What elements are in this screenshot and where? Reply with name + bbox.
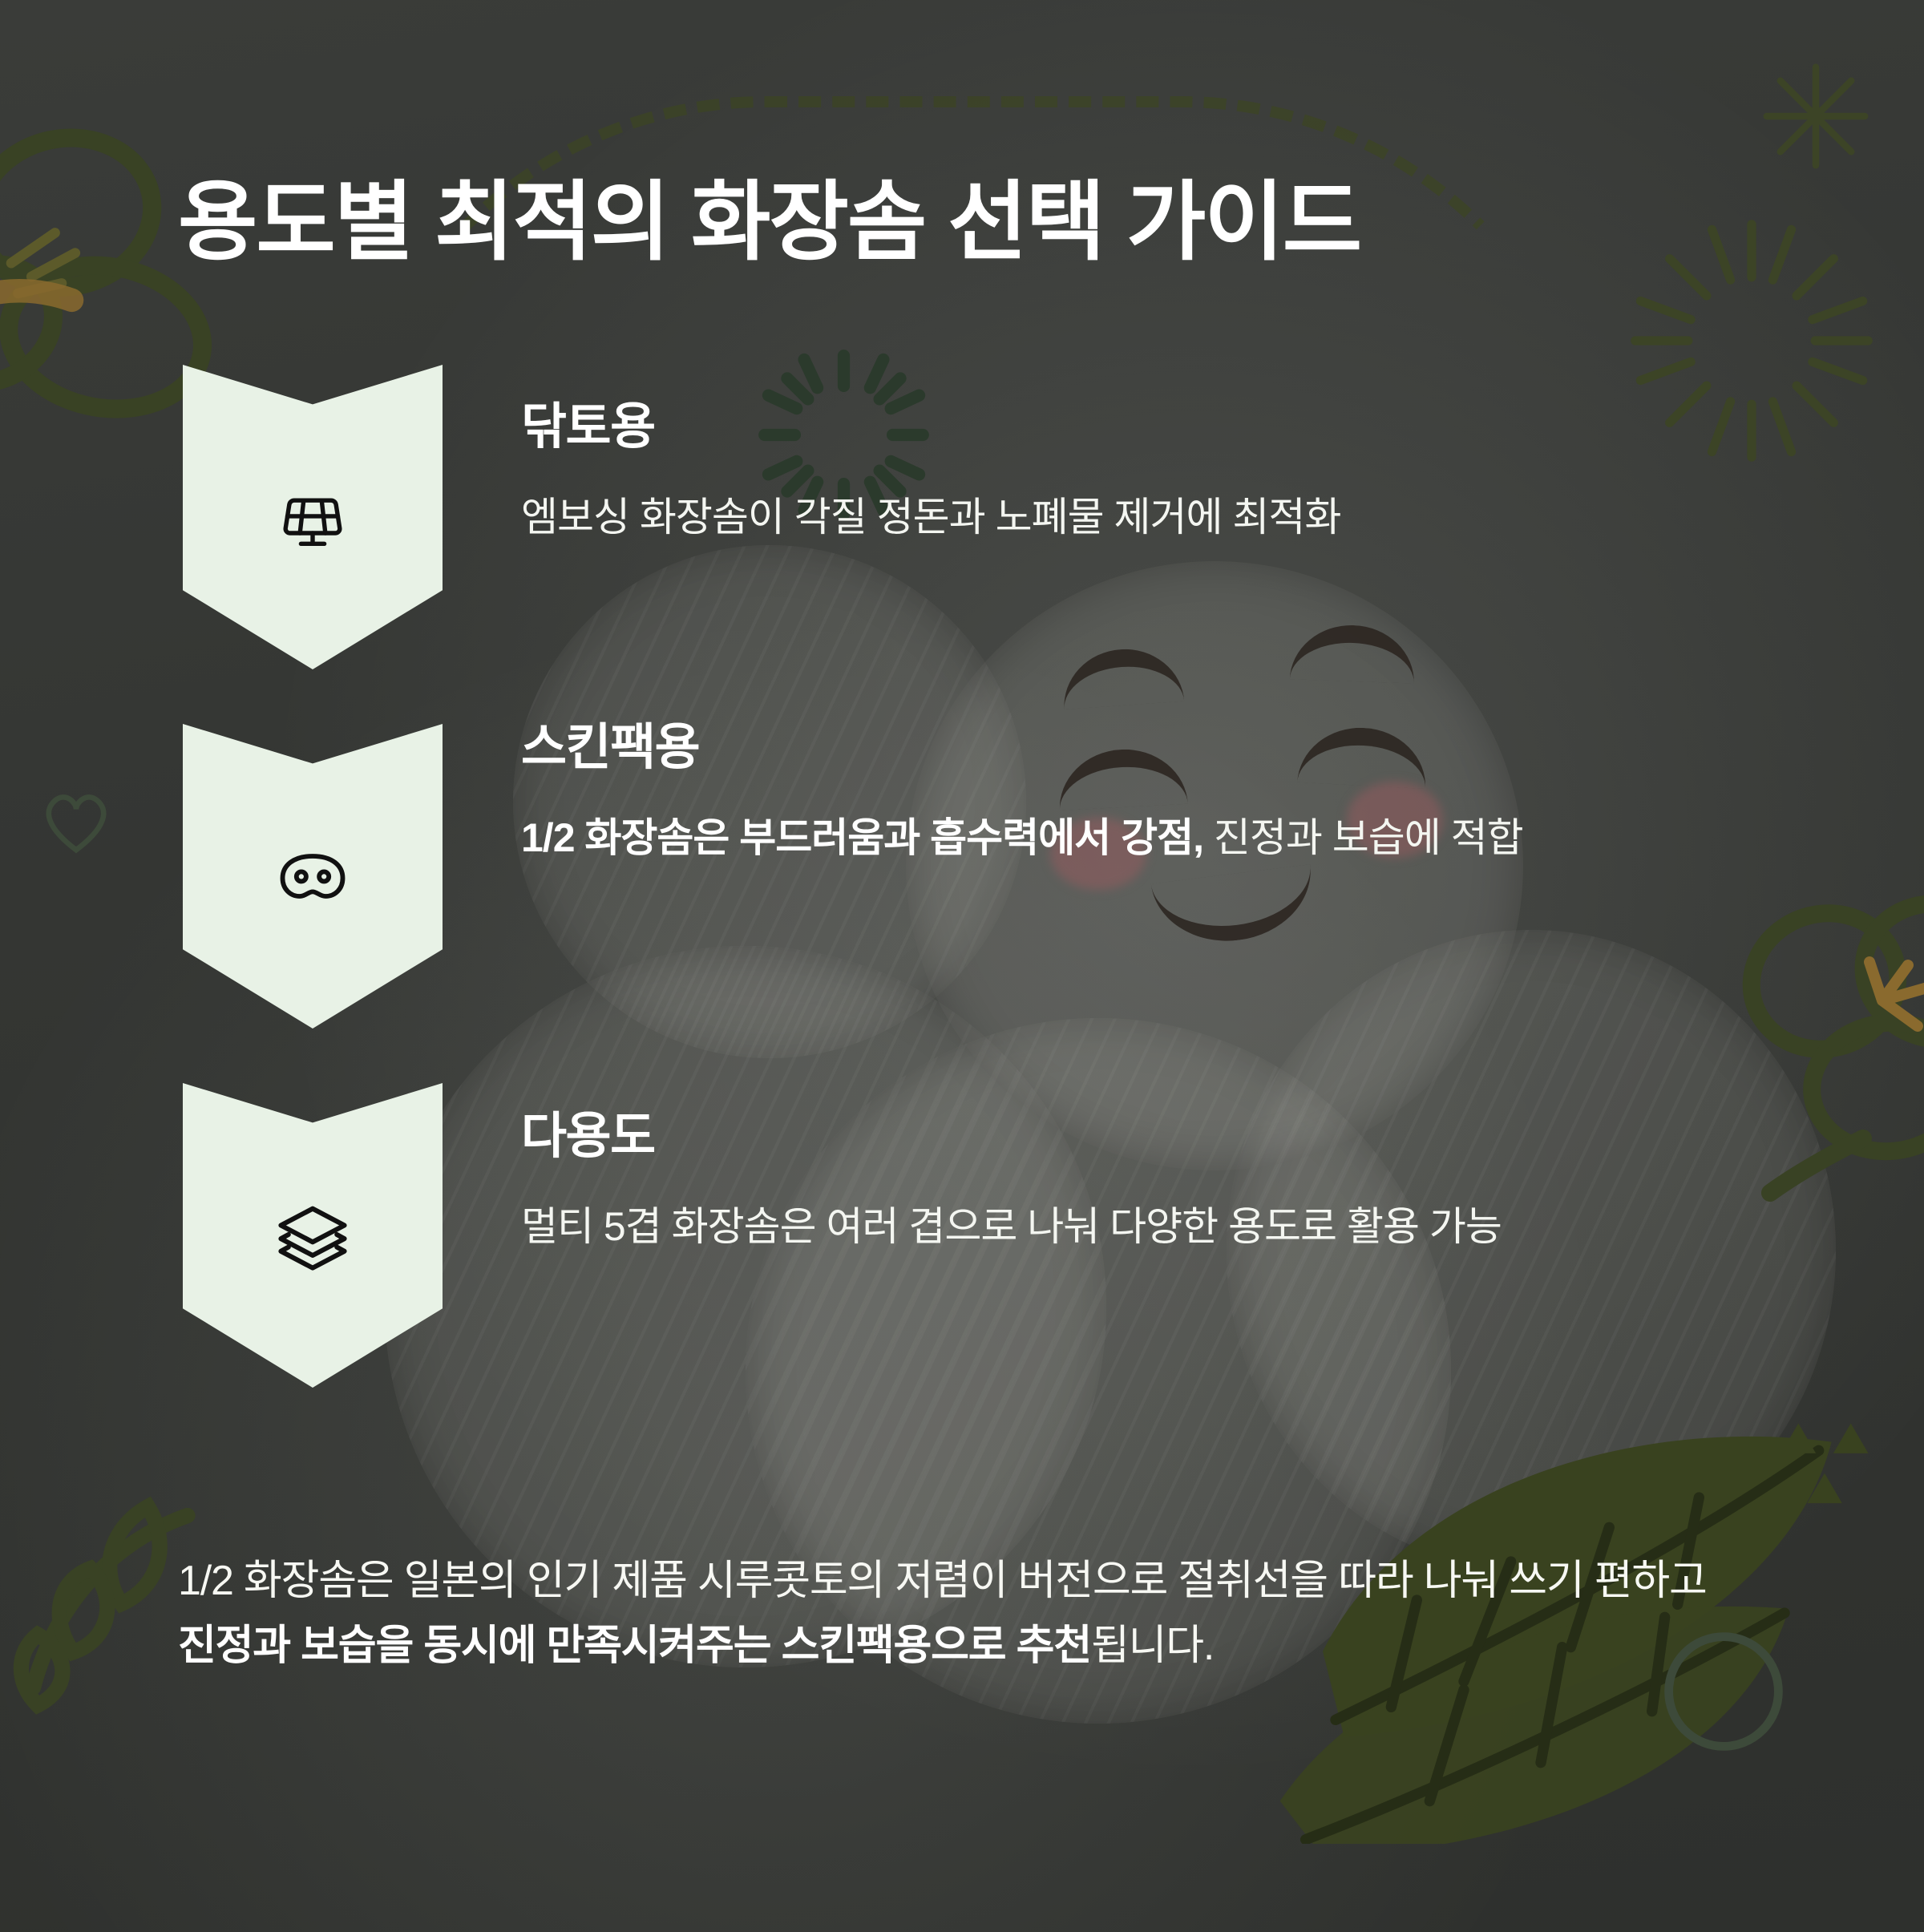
block-heading: 닦토용 [521,401,1732,453]
page-title: 용도별 최적의 화장솜 선택 가이드 [178,152,1360,277]
block-heading: 다용도 [521,1110,1732,1162]
footnote-tail: 됩니다. [1091,1623,1214,1669]
infographic-canvas: 용도별 최적의 화장솜 선택 가이드 닦토용 엠보싱 화장솜이 각질 정돈과 노… [0,0,1924,1932]
layers-stack-icon [273,1195,353,1275]
content-block: 스킨팩용 1/2 화장솜은 부드러움과 흡수력에서 강점, 진정과 보습에 적합 [521,721,1732,868]
content-block: 다용도 멀티 5겹 화장솜은 여러 겹으로 나눠 다양한 용도로 활용 가능 [521,1110,1732,1257]
block-body-rest: 진정과 보습에 적합 [1203,815,1523,860]
block-body: 엠보싱 화장솜이 각질 정돈과 노폐물 제거에 최적화 [521,487,1732,548]
solar-panel-grid-icon [273,477,353,557]
chevron-step-3[interactable] [183,1083,443,1388]
content-block: 닦토용 엠보싱 화장솜이 각질 정돈과 노폐물 제거에 최적화 [521,401,1732,548]
block-body-plain: 엠보싱 화장솜이 각질 정돈과 노폐물 제거에 최적화 [521,495,1340,540]
chevron-step-2[interactable] [183,724,443,1029]
block-heading: 스킨팩용 [521,721,1732,774]
face-mask-icon [273,836,353,916]
block-body-plain: 멀티 5겹 화장솜은 여러 겹으로 나눠 다양한 용도로 활용 가능 [521,1204,1502,1249]
footnote-lead: 1/2 화장솜은 일본의 인기 제품 시루콧토의 저렴이 버전으로 절취선을 따… [178,1558,1707,1604]
block-body: 1/2 화장솜은 부드러움과 흡수력에서 강점, 진정과 보습에 적합 [521,807,1732,868]
footnote-paragraph: 1/2 화장솜은 일본의 인기 제품 시루콧토의 저렴이 버전으로 절취선을 따… [178,1549,1749,1679]
block-body: 멀티 5겹 화장솜은 여러 겹으로 나눠 다양한 용도로 활용 가능 [521,1196,1732,1257]
chevron-step-1[interactable] [183,365,443,669]
footnote-bold: 진정과 보습을 동시에 만족시켜주는 스킨팩용으로 추천 [178,1623,1091,1669]
chevron-step-column [183,365,443,1388]
block-body-bold: 1/2 화장솜은 부드러움과 흡수력에서 강점, [521,815,1203,860]
